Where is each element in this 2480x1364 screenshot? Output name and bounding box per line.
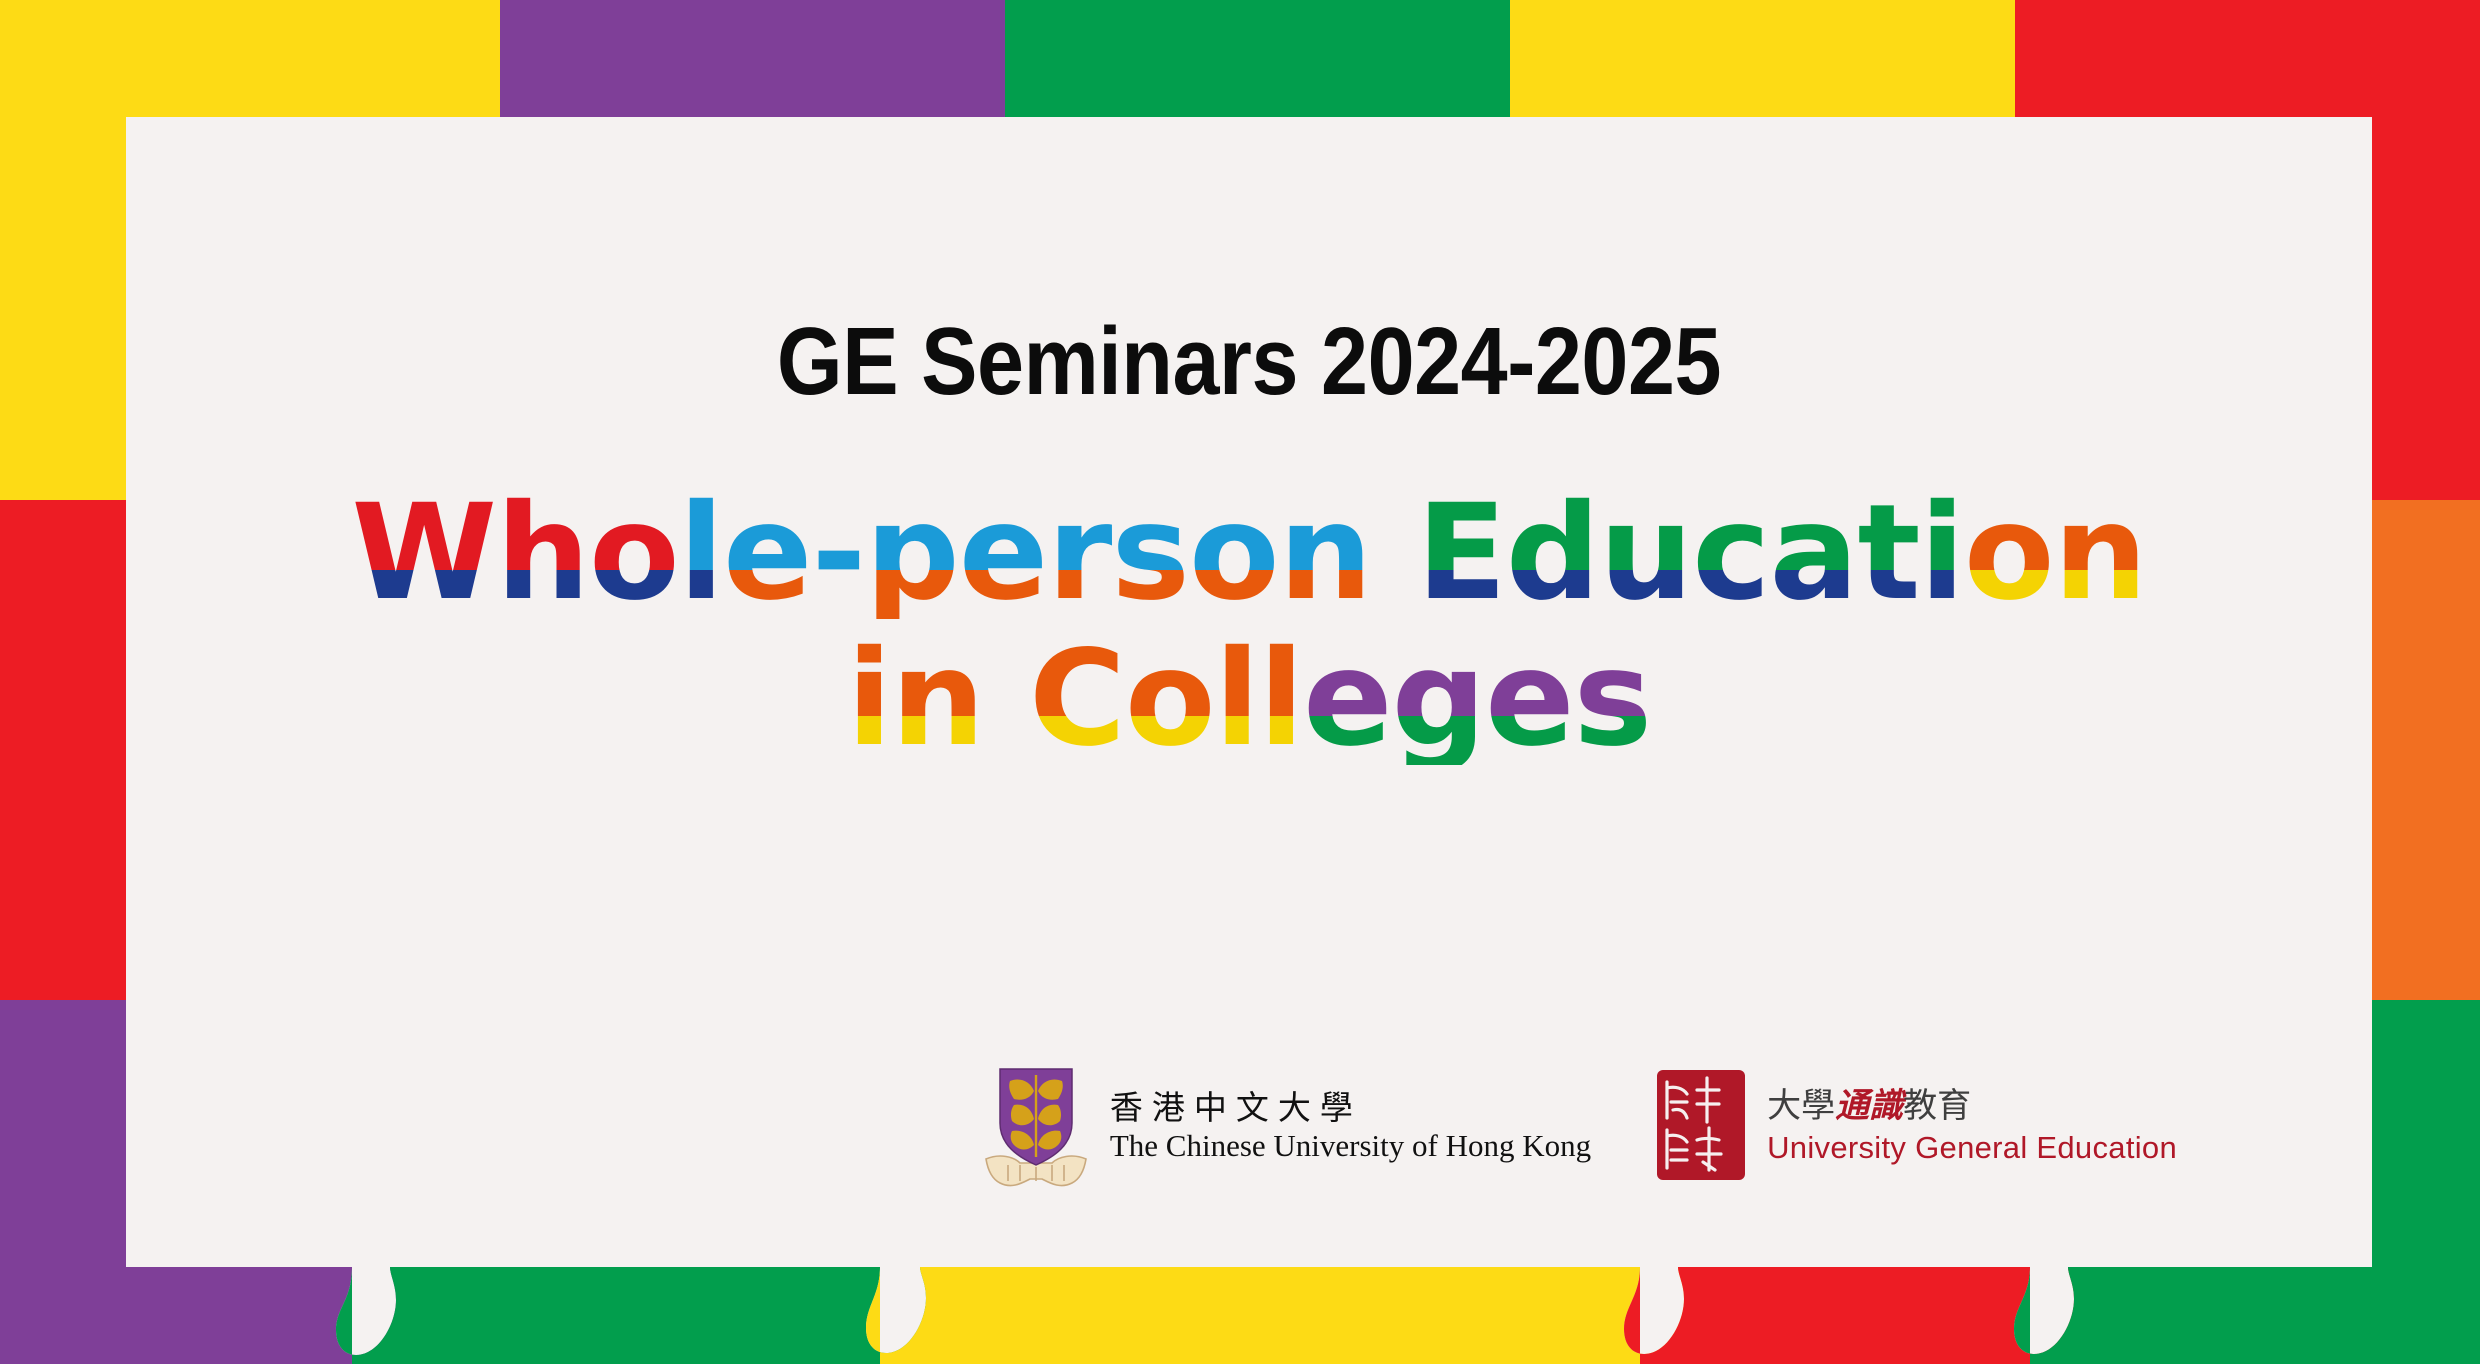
content-card: GE Seminars 2024-2025 Whole-person Educa…	[126, 117, 2372, 1267]
uge-chinese-prefix: 大學	[1767, 1086, 1835, 1126]
uge-seal-icon	[1653, 1066, 1749, 1184]
headline-segment: person	[865, 487, 1371, 619]
university-general-education-logo: 大學通識教育 University General Education	[1653, 1066, 2177, 1184]
headline-line-1: Whole-person Education	[126, 487, 2372, 619]
cuhk-logo-chinese: 香港中文大學	[1110, 1087, 1591, 1128]
uge-logo-english: University General Education	[1767, 1129, 2177, 1166]
poster-root: GE Seminars 2024-2025 Whole-person Educa…	[0, 0, 2480, 1364]
headline-segment: on	[1964, 487, 2147, 619]
uge-logo-chinese: 大學通識教育	[1767, 1084, 2177, 1128]
uge-chinese-red: 通識	[1835, 1086, 1903, 1126]
headline: Whole-person Education in Colleges	[126, 487, 2372, 765]
headline-segment: Educati	[1417, 487, 1964, 619]
headline-segment	[1372, 487, 1417, 619]
cuhk-logo: 香港中文大學 The Chinese University of Hong Ko…	[980, 1061, 1591, 1189]
left-color-band	[0, 500, 126, 1364]
right-color-band	[2372, 500, 2480, 1364]
headline-line-2: in Colleges	[126, 633, 2372, 765]
headline-segment: in Coll	[847, 633, 1303, 765]
logo-row: 香港中文大學 The Chinese University of Hong Ko…	[126, 1061, 2372, 1189]
headline-segment: Wh	[351, 487, 589, 619]
headline-segment: l	[679, 487, 723, 619]
headline-segment: eges	[1303, 633, 1651, 765]
cuhk-crest-icon	[980, 1061, 1092, 1189]
headline-segment: o	[589, 487, 679, 619]
page-title: GE Seminars 2024-2025	[261, 307, 2237, 417]
uge-chinese-suffix: 教育	[1903, 1086, 1971, 1126]
cuhk-logo-english: The Chinese University of Hong Kong	[1110, 1128, 1591, 1164]
headline-segment: e-	[723, 487, 865, 619]
